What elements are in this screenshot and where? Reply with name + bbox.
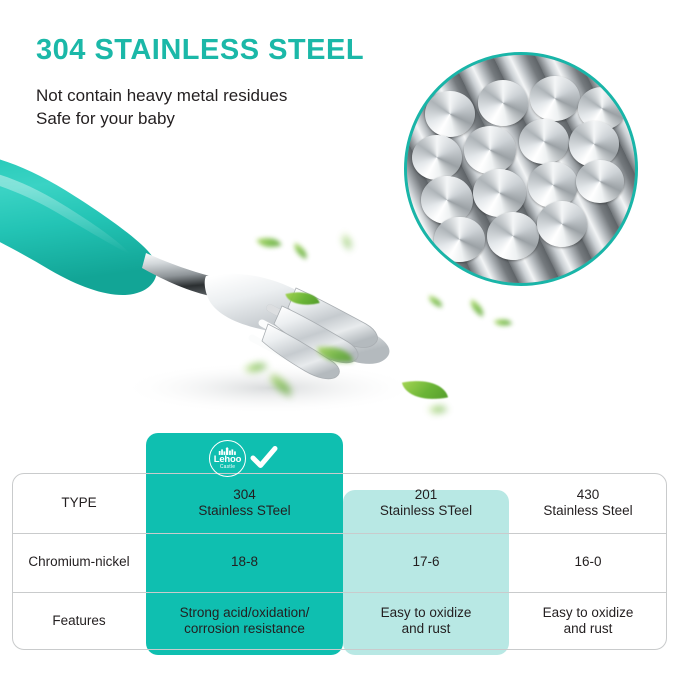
fork-illustration: [0, 120, 530, 450]
cell-type-430: 430 Stainless Steel: [509, 473, 667, 532]
lehoo-castle-badge: Lehoo Castle: [209, 440, 246, 477]
cell-chromium-201: 17-6: [343, 532, 509, 591]
cell-type-304: 304 Stainless STeel: [146, 473, 343, 532]
cell-features-201: Easy to oxidize and rust: [343, 591, 509, 650]
brand-name: Lehoo: [214, 455, 242, 464]
cell-chromium-430: 16-0: [509, 532, 667, 591]
brand-endorsement: Lehoo Castle: [209, 438, 289, 478]
row-label-features: Features: [12, 591, 146, 650]
comparison-table-cells: TYPE 304 Stainless STeel 201 Stainless S…: [12, 473, 667, 650]
page-title: 304 STAINLESS STEEL: [36, 34, 364, 67]
row-label-type: TYPE: [12, 473, 146, 532]
brand-subname: Castle: [220, 464, 235, 470]
cell-chromium-304: 18-8: [146, 532, 343, 591]
fork-svg: [0, 120, 530, 450]
cell-features-304: Strong acid/oxidation/ corrosion resista…: [146, 591, 343, 650]
cell-type-201: 201 Stainless STeel: [343, 473, 509, 532]
check-icon: [250, 445, 278, 471]
cell-features-430: Easy to oxidize and rust: [509, 591, 667, 650]
product-infographic: 304 STAINLESS STEEL Not contain heavy me…: [0, 0, 679, 679]
row-label-chromium-nickel: Chromium-nickel: [12, 532, 146, 591]
